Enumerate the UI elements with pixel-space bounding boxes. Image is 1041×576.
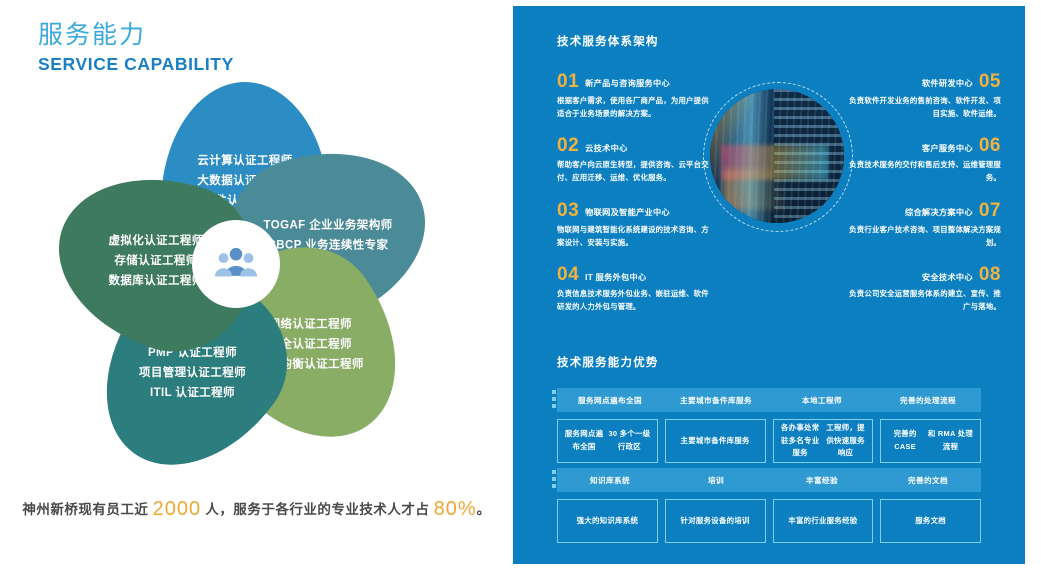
table-header-row: 知识库系统 培训 丰富经验 完善的文档 xyxy=(557,468,981,492)
table-cell[interactable]: 服务文档 xyxy=(880,499,981,543)
architecture-item-number: 06 xyxy=(979,136,1001,155)
table-row: 服务网点遍布全国30 多个一级行政区 主要城市备件库服务 各办事处常驻多名专业服… xyxy=(557,419,981,463)
architecture-item-header: 安全技术中心 08 xyxy=(849,265,1001,284)
architecture-item-desc: 帮助客户向云原生转型，提供咨询、云平台交付、应用迁移、运维、优化服务。 xyxy=(557,159,709,184)
table-header-row: 服务网点遍布全国 主要城市备件库服务 本地工程师 完善的处理流程 xyxy=(557,388,981,412)
staff-statistics: 神州新桥现有员工近 2000 人，服务于各行业的专业技术人才占 80%。 xyxy=(0,498,513,521)
architecture-item-desc: 负责行业客户技术咨询、项目整体解决方案规划。 xyxy=(849,224,1001,249)
architecture-item-desc: 物联网与建筑智能化系统建设的技术咨询、方案设计、安装与实施。 xyxy=(557,224,709,249)
petal-line: ITIL 认证工程师 xyxy=(138,383,245,403)
table-cell[interactable]: 服务网点遍布全国30 多个一级行政区 xyxy=(557,419,658,463)
table-cell[interactable]: 针对服务设备的培训 xyxy=(665,499,766,543)
table-header-cell: 丰富经验 xyxy=(769,475,875,486)
table-header-cell: 完善的处理流程 xyxy=(875,395,981,406)
architecture-item[interactable]: 03 物联网及智能产业中心 物联网与建筑智能化系统建设的技术咨询、方案设计、安装… xyxy=(557,201,709,249)
table-header-cell: 培训 xyxy=(663,475,769,486)
architecture-item-number: 04 xyxy=(557,265,579,284)
architecture-item-header: 03 物联网及智能产业中心 xyxy=(557,201,709,220)
petal-line: 数据库认证工程师 xyxy=(108,271,203,291)
people-group-icon xyxy=(192,220,280,308)
advantages-table-1: 服务网点遍布全国 主要城市备件库服务 本地工程师 完善的处理流程 服务网点遍布全… xyxy=(557,388,981,463)
architecture-item-header: 综合解决方案中心 07 xyxy=(849,201,1001,220)
stat-text-part-2: 人，服务于各行业的专业技术人才占 xyxy=(201,502,434,517)
architecture-item-header: 软件研发中心 05 xyxy=(849,72,1001,91)
architecture-item-title: 综合解决方案中心 xyxy=(905,208,973,220)
petal-line: 项目管理认证工程师 xyxy=(138,363,245,383)
architecture-item-desc: 根据客户需求，使用各厂商产品，为用户提供适合于业务场景的解决方案。 xyxy=(557,95,709,120)
architecture-item-number: 07 xyxy=(979,201,1001,220)
page-title: 服务能力 SERVICE CAPABILITY xyxy=(38,22,234,75)
petal-label: 虚拟化认证工程师 存储认证工程师 数据库认证工程师 xyxy=(108,231,203,291)
petal-line: TOGAF 企业业务架构师 xyxy=(264,215,393,235)
table-cell[interactable]: 完善的 CASE和 RMA 处理流程 xyxy=(880,419,981,463)
architecture-item-header: 04 IT 服务外包中心 xyxy=(557,265,709,284)
architecture-item-title: 客户服务中心 xyxy=(922,144,973,156)
advantages-table-2: 知识库系统 培训 丰富经验 完善的文档 强大的知识库系统 针对服务设备的培训 丰… xyxy=(557,468,981,543)
table-notch-icon xyxy=(552,390,556,410)
technical-service-panel: 技术服务体系架构 01 新产品与咨询服务中心 根据客户需求，使用各厂商产品，为用… xyxy=(513,6,1025,564)
architecture-item-desc: 负责技术服务的交付和售后支持、运维管理服务。 xyxy=(849,159,1001,184)
petal-line: 存储认证工程师 xyxy=(108,251,203,271)
data-center-photo-ring xyxy=(703,82,853,232)
table-cell[interactable]: 主要城市备件库服务 xyxy=(665,419,766,463)
architecture-right-column: 软件研发中心 05 负责软件开发业务的售前咨询、软件开发、项目实施、软件运维。 … xyxy=(849,72,1001,314)
architecture-item-title: 安全技术中心 xyxy=(922,273,973,285)
page-title-en: SERVICE CAPABILITY xyxy=(38,54,234,75)
architecture-item-title: 物联网及智能产业中心 xyxy=(585,208,670,220)
architecture-item-desc: 负责公司安全运营服务体系的建立、宣传、推广与落地。 xyxy=(849,288,1001,313)
architecture-heading: 技术服务体系架构 xyxy=(557,33,659,49)
stat-text-part-1: 神州新桥现有员工近 xyxy=(22,502,152,517)
table-cell[interactable]: 丰富的行业服务经验 xyxy=(773,499,874,543)
table-notch-icon xyxy=(552,470,556,490)
architecture-item-number: 05 xyxy=(979,72,1001,91)
architecture-item[interactable]: 02 云技术中心 帮助客户向云原生转型，提供咨询、云平台交付、应用迁移、运维、优… xyxy=(557,136,709,184)
capability-flower-diagram: 云计算认证工程师 大数据认证工程师 软件认证工程师 TOGAF 企业业务架构师 … xyxy=(48,88,468,488)
petal-label: PMP 认证工程师 项目管理认证工程师 ITIL 认证工程师 xyxy=(138,343,245,403)
table-header-cell: 主要城市备件库服务 xyxy=(663,395,769,406)
stat-text-part-3: 。 xyxy=(477,502,491,517)
architecture-item[interactable]: 综合解决方案中心 07 负责行业客户技术咨询、项目整体解决方案规划。 xyxy=(849,201,1001,249)
table-header-cell: 完善的文档 xyxy=(875,475,981,486)
architecture-item-desc: 负责信息技术服务外包业务、嵌驻运维、软件研发的人力外包与管理。 xyxy=(557,288,709,313)
architecture-item-number: 02 xyxy=(557,136,579,155)
table-header-cell: 服务网点遍布全国 xyxy=(557,395,663,406)
architecture-item-header: 客户服务中心 06 xyxy=(849,136,1001,155)
architecture-item[interactable]: 安全技术中心 08 负责公司安全运营服务体系的建立、宣传、推广与落地。 xyxy=(849,265,1001,313)
architecture-item-header: 01 新产品与咨询服务中心 xyxy=(557,72,709,91)
photo-layer xyxy=(723,169,785,209)
table-cell[interactable]: 各办事处常驻多名专业服务工程师，提供快速服务响应 xyxy=(773,419,874,463)
architecture-item[interactable]: 软件研发中心 05 负责软件开发业务的售前咨询、软件开发、项目实施、软件运维。 xyxy=(849,72,1001,120)
stat-specialist-percent: 80% xyxy=(434,498,477,520)
table-header-cell: 知识库系统 xyxy=(557,475,663,486)
architecture-item[interactable]: 04 IT 服务外包中心 负责信息技术服务外包业务、嵌驻运维、软件研发的人力外包… xyxy=(557,265,709,313)
architecture-item-number: 01 xyxy=(557,72,579,91)
table-row: 强大的知识库系统 针对服务设备的培训 丰富的行业服务经验 服务文档 xyxy=(557,499,981,543)
architecture-left-column: 01 新产品与咨询服务中心 根据客户需求，使用各厂商产品，为用户提供适合于业务场… xyxy=(557,72,709,314)
page-title-cn: 服务能力 xyxy=(38,22,234,50)
architecture-item-title: 新产品与咨询服务中心 xyxy=(585,79,670,91)
architecture-item-number: 03 xyxy=(557,201,579,220)
stat-employee-count: 2000 xyxy=(153,498,202,520)
architecture-item-title: IT 服务外包中心 xyxy=(585,273,646,285)
architecture-item-number: 08 xyxy=(979,265,1001,284)
architecture-item[interactable]: 客户服务中心 06 负责技术服务的交付和售后支持、运维管理服务。 xyxy=(849,136,1001,184)
data-center-network-photo xyxy=(710,89,844,223)
architecture-item-header: 02 云技术中心 xyxy=(557,136,709,155)
table-cell[interactable]: 强大的知识库系统 xyxy=(557,499,658,543)
petal-line: 虚拟化认证工程师 xyxy=(108,231,203,251)
architecture-item-title: 云技术中心 xyxy=(585,144,627,156)
architecture-item-desc: 负责软件开发业务的售前咨询、软件开发、项目实施、软件运维。 xyxy=(849,95,1001,120)
architecture-item-title: 软件研发中心 xyxy=(922,79,973,91)
table-header-cell: 本地工程师 xyxy=(769,395,875,406)
architecture-item[interactable]: 01 新产品与咨询服务中心 根据客户需求，使用各厂商产品，为用户提供适合于业务场… xyxy=(557,72,709,120)
service-capability-panel: 服务能力 SERVICE CAPABILITY 云计算认证工程师 大数据认证工程… xyxy=(0,0,513,576)
advantages-heading: 技术服务能力优势 xyxy=(557,354,659,370)
